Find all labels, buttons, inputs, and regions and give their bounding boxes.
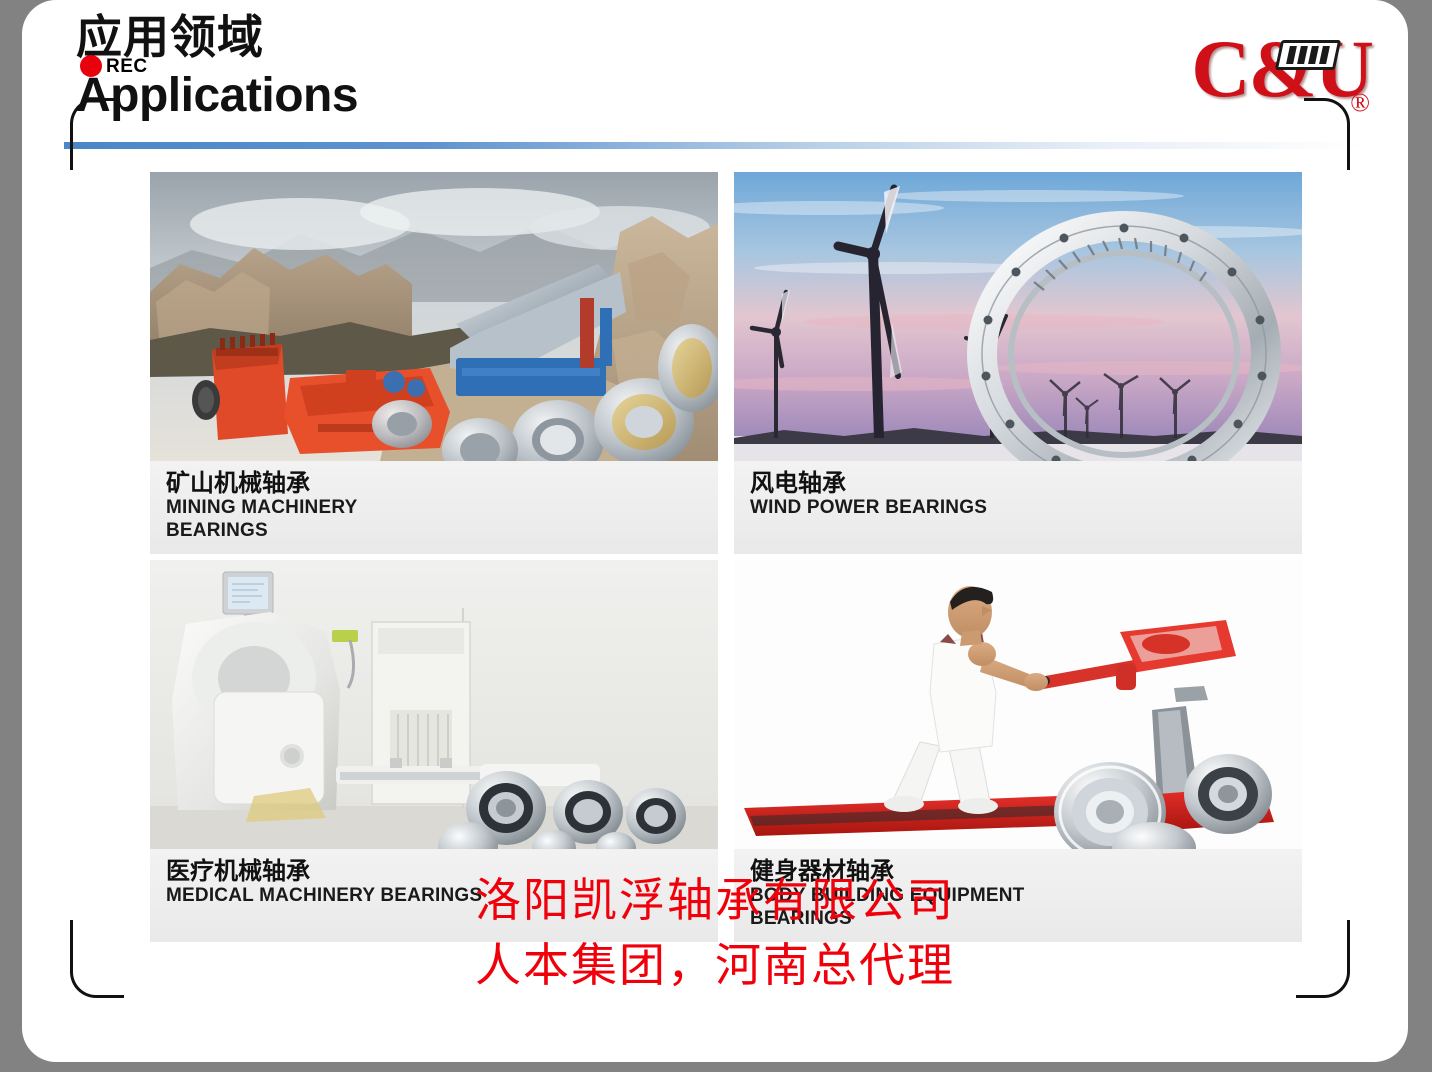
card-title-en-line1: MEDICAL MACHINERY BEARINGS — [166, 885, 718, 907]
corner-bracket-top-right — [1304, 98, 1350, 170]
card-title-en-line1: WIND POWER BEARINGS — [750, 497, 1302, 519]
mining-machinery-photo — [150, 172, 718, 461]
page-title-en: Applications — [76, 72, 358, 120]
watermark-line-2: 人本集团，河南总代理 — [22, 933, 1408, 998]
corner-bracket-bottom-left — [70, 920, 124, 998]
registered-trademark-icon: ® — [1350, 90, 1370, 116]
slide-panel: 应用领域 Applications REC C&U ® — [22, 0, 1408, 1062]
striped-bars-icon — [1275, 40, 1341, 70]
card-title-cn: 风电轴承 — [750, 469, 1302, 497]
card-title-en-line2: BEARINGS — [166, 520, 718, 542]
recording-indicator: REC — [80, 55, 148, 77]
body-building-photo — [734, 560, 1302, 849]
card-caption-wind-power: 风电轴承 WIND POWER BEARINGS — [734, 461, 1302, 554]
card-title-cn: 矿山机械轴承 — [166, 469, 718, 497]
card-title-en-line1: MINING MACHINERY — [166, 497, 718, 519]
page-title-cn: 应用领域 — [76, 14, 264, 60]
record-dot-icon — [80, 55, 102, 77]
medical-machinery-photo — [150, 560, 718, 849]
corner-bracket-bottom-right — [1296, 920, 1350, 998]
application-card-mining[interactable]: 矿山机械轴承 MINING MACHINERY BEARINGS — [150, 172, 718, 554]
card-caption-medical: 医疗机械轴承 MEDICAL MACHINERY BEARINGS — [150, 849, 718, 942]
recording-label: REC — [106, 57, 148, 76]
slide-header: 应用领域 Applications REC C&U ® — [22, 0, 1408, 160]
card-caption-mining: 矿山机械轴承 MINING MACHINERY BEARINGS — [150, 461, 718, 554]
header-divider — [64, 142, 1364, 149]
application-card-wind-power[interactable]: 风电轴承 WIND POWER BEARINGS — [734, 172, 1302, 554]
applications-grid: 矿山机械轴承 MINING MACHINERY BEARINGS — [150, 172, 1302, 942]
card-title-cn: 健身器材轴承 — [750, 857, 1302, 885]
wind-power-photo — [734, 172, 1302, 461]
corner-bracket-top-left — [70, 98, 116, 170]
card-title-en-line1: BODY BUILDING EQUIPMENT — [750, 885, 1302, 907]
cu-logo: C&U ® — [1191, 28, 1372, 120]
application-card-body-building[interactable]: 健身器材轴承 BODY BUILDING EQUIPMENT BEARINGS — [734, 560, 1302, 942]
card-caption-body-building: 健身器材轴承 BODY BUILDING EQUIPMENT BEARINGS — [734, 849, 1302, 942]
card-title-en-line2: BEARINGS — [750, 908, 1302, 930]
application-card-medical[interactable]: 医疗机械轴承 MEDICAL MACHINERY BEARINGS — [150, 560, 718, 942]
card-title-cn: 医疗机械轴承 — [166, 857, 718, 885]
